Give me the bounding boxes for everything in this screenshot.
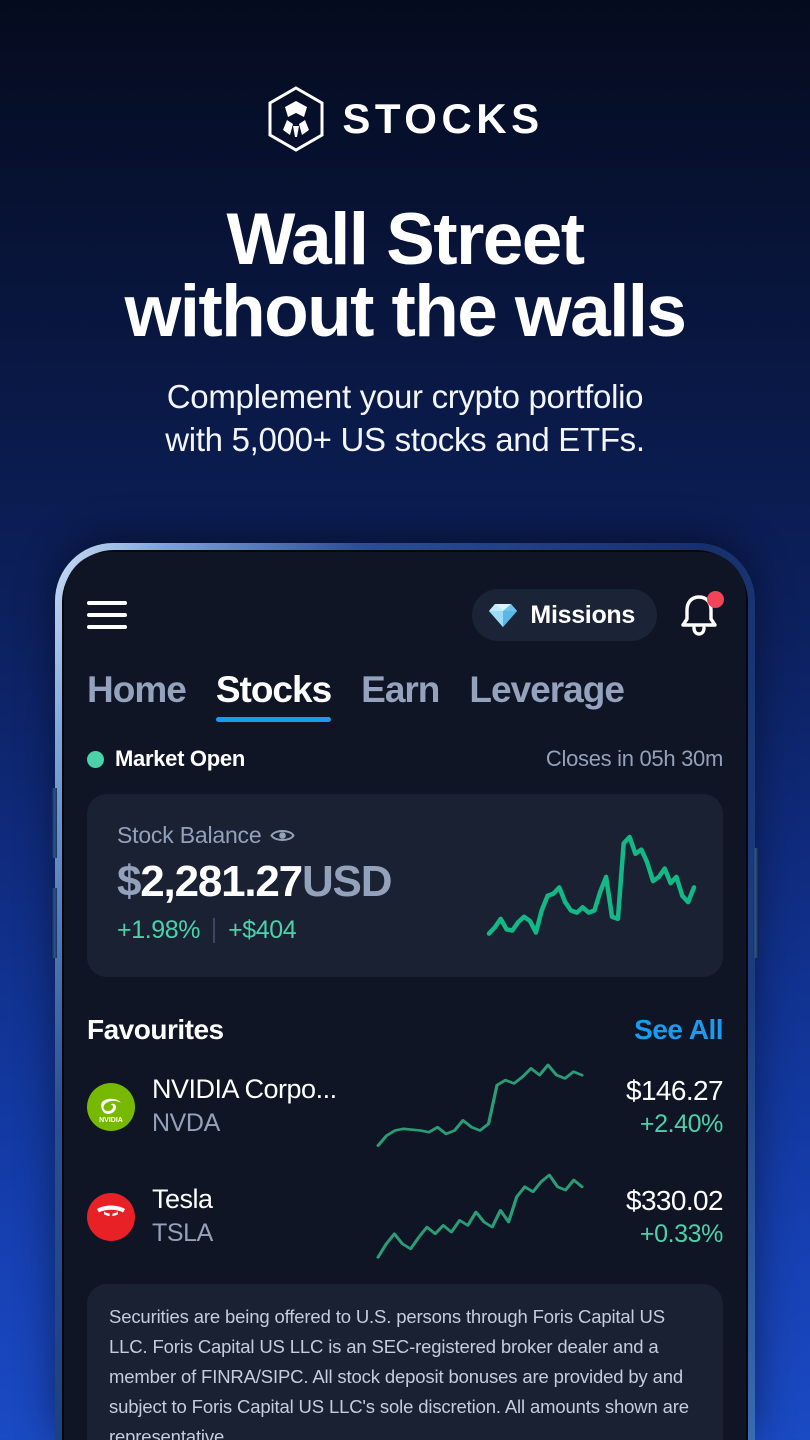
balance-title-row: Stock Balance: [117, 822, 391, 849]
app-tabs: Home Stocks Earn Leverage: [87, 652, 723, 722]
eye-icon[interactable]: [270, 827, 295, 844]
stock-change: +0.33%: [593, 1219, 723, 1250]
volume-up-button[interactable]: [51, 788, 57, 858]
headline-line-1: Wall Street: [30, 204, 780, 276]
balance-change-percent: +1.98%: [117, 916, 200, 945]
notifications-button[interactable]: [679, 592, 723, 638]
volume-down-button[interactable]: [51, 888, 57, 958]
phone-mockup: Missions Home Stocks Earn Lev: [55, 543, 755, 1440]
list-item[interactable]: NVIDIA NVIDIA Corpo... NVDA $146.27 +2.4…: [87, 1052, 723, 1162]
stock-change: +2.40%: [593, 1109, 723, 1140]
tab-home[interactable]: Home: [87, 669, 186, 722]
favourites-title: Favourites: [87, 1014, 224, 1046]
balance-amount: $2,281.27USD: [117, 859, 391, 905]
svg-text:NVIDIA: NVIDIA: [99, 1117, 123, 1124]
market-closes-in: Closes in 05h 30m: [546, 746, 723, 772]
notification-bell-icon: [679, 623, 719, 640]
brand-logo: STOCKS: [0, 86, 810, 152]
stock-balance-card[interactable]: Stock Balance $2,281.27USD +1.98%: [87, 794, 723, 977]
list-item[interactable]: Tesla TSLA $330.02 +0.33%: [87, 1162, 723, 1272]
balance-title: Stock Balance: [117, 822, 261, 849]
stock-ticker: NVDA: [152, 1108, 367, 1139]
stock-identity: NVIDIA Corpo... NVDA: [152, 1074, 367, 1139]
stock-name: NVIDIA Corpo...: [152, 1074, 367, 1106]
missions-button[interactable]: Missions: [472, 589, 657, 641]
tab-leverage[interactable]: Leverage: [469, 669, 624, 722]
notification-badge-dot: [707, 591, 724, 608]
brand-wordmark: STOCKS: [342, 98, 543, 140]
legal-disclaimer: Securities are being offered to U.S. per…: [87, 1284, 723, 1440]
market-status-dot: [87, 751, 104, 768]
balance-currency-symbol: $: [117, 857, 140, 906]
subhead-line-2: with 5,000+ US stocks and ETFs.: [0, 418, 810, 462]
balance-change-absolute: +$404: [228, 916, 296, 945]
stock-ticker: TSLA: [152, 1218, 367, 1249]
power-button[interactable]: [753, 848, 759, 958]
balance-details: Stock Balance $2,281.27USD +1.98%: [117, 820, 391, 977]
market-status-label: Market Open: [115, 746, 245, 772]
tab-stocks[interactable]: Stocks: [216, 669, 331, 722]
tsla-sparkline: [367, 1171, 593, 1263]
app-topbar: Missions: [87, 552, 723, 652]
balance-change-separator: [213, 918, 215, 943]
page-title: Wall Street without the walls: [0, 204, 810, 349]
stock-name: Tesla: [152, 1184, 367, 1216]
diamond-gem-icon: [488, 601, 518, 629]
balance-currency-code: USD: [302, 857, 391, 906]
missions-label: Missions: [530, 601, 635, 630]
stock-balance-sparkline: [484, 820, 699, 977]
hamburger-menu-icon[interactable]: [87, 601, 127, 629]
stock-identity: Tesla TSLA: [152, 1184, 367, 1249]
see-all-link[interactable]: See All: [634, 1014, 723, 1046]
nvidia-logo: NVIDIA: [87, 1083, 135, 1131]
favourites-header: Favourites See All: [87, 1008, 723, 1052]
cryptocom-hexagon-logo: [266, 86, 326, 152]
market-status-row: Market Open Closes in 05h 30m: [87, 742, 723, 776]
subhead-line-1: Complement your crypto portfolio: [0, 375, 810, 419]
stock-price: $330.02: [593, 1184, 723, 1218]
tab-earn[interactable]: Earn: [361, 669, 439, 722]
stock-values: $146.27 +2.40%: [593, 1074, 723, 1141]
headline-line-2: without the walls: [30, 276, 780, 348]
phone-screen: Missions Home Stocks Earn Lev: [64, 552, 746, 1440]
nvda-sparkline: [367, 1061, 593, 1153]
balance-change: +1.98% +$404: [117, 916, 391, 945]
balance-value: 2,281.27: [140, 857, 302, 906]
stock-price: $146.27: [593, 1074, 723, 1108]
tesla-logo: [87, 1193, 135, 1241]
hero-section: STOCKS Wall Street without the walls Com…: [0, 0, 810, 462]
stocks-app: Missions Home Stocks Earn Lev: [64, 552, 746, 1440]
page-subtitle: Complement your crypto portfolio with 5,…: [0, 375, 810, 462]
stock-values: $330.02 +0.33%: [593, 1184, 723, 1251]
